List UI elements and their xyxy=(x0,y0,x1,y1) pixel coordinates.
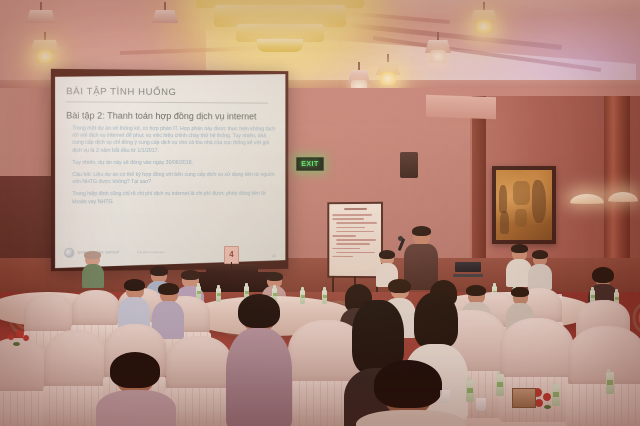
table-number-label: 4 xyxy=(229,251,233,259)
slide-subtitle: Bài tập 2: Thanh toán hợp đồng dịch vụ i… xyxy=(66,110,275,121)
audience-member xyxy=(82,252,104,286)
conference-room-photo: BÀI TẬP TÌNH HUỐNG Bài tập 2: Thanh toán… xyxy=(0,0,640,426)
slide-paragraph: Trong một dự án về thống kê, có hợp phần… xyxy=(66,126,275,155)
globe-icon xyxy=(64,248,74,258)
microphone-head xyxy=(398,236,403,241)
slide-page-number: 23 xyxy=(272,254,276,258)
water-bottle xyxy=(322,290,327,304)
pendant-spotlight xyxy=(425,32,451,64)
pendant-spotlight xyxy=(152,2,178,34)
world-bank-logo: WORLD BANK GROUP Trái đất Procurement xyxy=(64,247,165,258)
exit-sign-label: EXIT xyxy=(301,161,319,168)
water-bottle xyxy=(496,374,504,396)
exit-sign: EXIT xyxy=(296,157,324,171)
slide-divider xyxy=(66,101,267,103)
banquet-chair xyxy=(568,326,640,426)
laptop xyxy=(455,262,481,277)
wall-speaker xyxy=(400,152,418,178)
drinking-glass xyxy=(476,398,486,411)
slide-paragraph: Câu hỏi: Liệu dự án có thể ký hợp đồng v… xyxy=(66,172,275,187)
drinking-glass xyxy=(440,390,450,403)
chandelier xyxy=(196,0,364,54)
slide-paragraph: Trong hiệp định cũng chỉ rõ chi phí dịch… xyxy=(66,191,275,206)
water-bottle xyxy=(216,288,221,302)
audience-member xyxy=(118,282,150,330)
flipchart xyxy=(327,202,383,278)
logo-subtext: Trái đất Procurement xyxy=(137,250,165,254)
audience-member-foreground xyxy=(226,300,292,426)
audience-member-foreground xyxy=(96,360,176,426)
audience-member xyxy=(528,252,552,288)
slide-title: BÀI TẬP TÌNH HUỐNG xyxy=(66,86,275,99)
water-bottle xyxy=(606,372,614,394)
ceiling-vent xyxy=(426,95,496,119)
water-bottle xyxy=(300,290,305,304)
slide-content: BÀI TẬP TÌNH HUỐNG Bài tập 2: Thanh toán… xyxy=(54,72,285,268)
projection-screen: BÀI TẬP TÌNH HUỐNG Bài tập 2: Thanh toán… xyxy=(51,69,288,271)
pendant-spotlight xyxy=(470,2,498,36)
slide-body: Trong một dự án về thống kê, có hợp phần… xyxy=(66,126,275,207)
pendant-spotlight xyxy=(348,62,370,90)
water-bottle xyxy=(466,380,474,402)
framed-painting xyxy=(492,166,556,244)
presenter xyxy=(404,228,438,288)
table-number-card: 4 xyxy=(224,246,239,264)
pendant-spotlight xyxy=(376,54,400,84)
slide-paragraph: Tuy nhiên, dự án này sẽ đóng vào ngày 30… xyxy=(66,160,275,167)
pendant-spotlight xyxy=(30,32,60,66)
table-card-frame xyxy=(512,388,536,408)
flower-centerpiece xyxy=(8,330,34,350)
